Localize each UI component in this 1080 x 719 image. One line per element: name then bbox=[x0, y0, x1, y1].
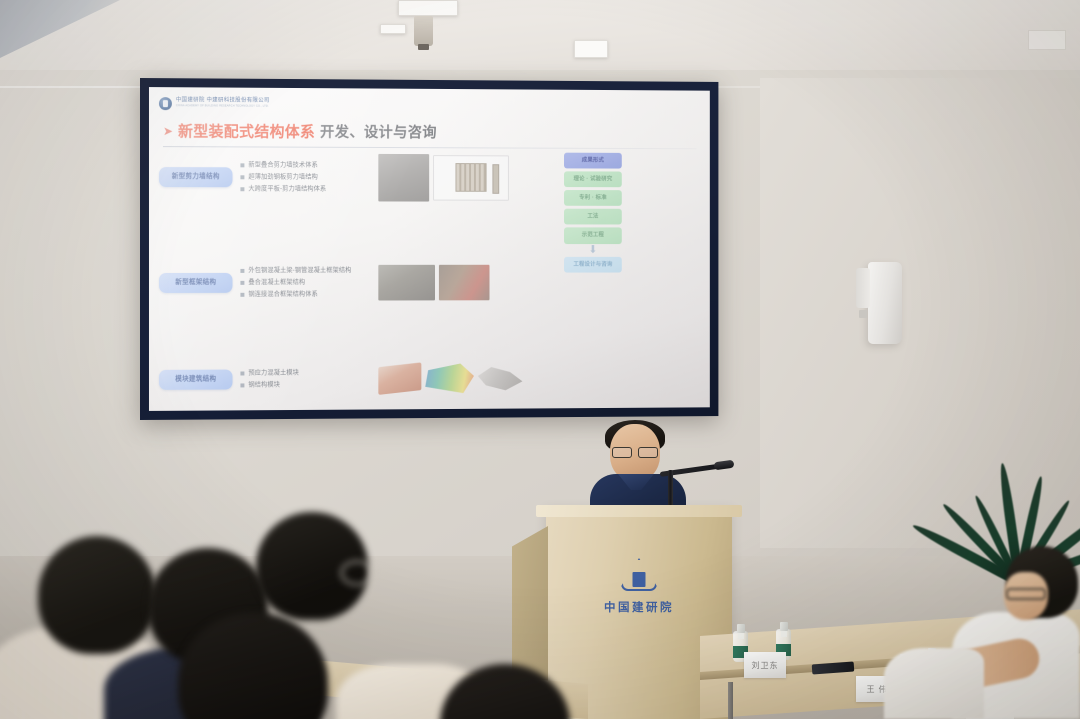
lectern-logo: 中国建研院 bbox=[546, 558, 732, 615]
slide-left-column: 新型剪力墙结构 新型叠合剪力墙技术体系 超薄加劲钢板剪力墙结构 bbox=[159, 149, 555, 405]
projection-screen-frame: 中国建研院 中建研科技股份有限公司 CHINA ACADEMY OF BUILD… bbox=[140, 78, 718, 420]
bullet-item: 超薄加劲钢板剪力墙结构 bbox=[240, 173, 370, 181]
bullet-list: 预应力混凝土模块 钢结构模块 bbox=[240, 369, 370, 389]
thumbnail-group bbox=[378, 363, 555, 394]
bullet-item: 钢连接混合框架结构体系 bbox=[240, 291, 370, 299]
ceiling-light bbox=[574, 40, 608, 58]
bullet-text: 叠合混凝土框架结构 bbox=[248, 279, 305, 287]
ceiling bbox=[0, 0, 1080, 78]
bullet-square-icon bbox=[240, 293, 244, 297]
structure-group: 模块建筑结构 预应力混凝土模块 钢结构模块 bbox=[159, 363, 555, 395]
bullet-text: 钢结构模块 bbox=[248, 381, 280, 389]
slide-title-highlight: 新型装配式结构体系 bbox=[178, 120, 315, 142]
flow-step: 理论 · 试验研究 bbox=[564, 171, 622, 187]
ceiling-light bbox=[380, 24, 406, 34]
name-card: 刘卫东 bbox=[744, 652, 786, 678]
lectern-logo-text: 中国建研院 bbox=[546, 599, 732, 615]
bullet-item: 预应力混凝土模块 bbox=[240, 369, 370, 377]
wall-dispenser bbox=[868, 262, 902, 344]
bullet-text: 外包钢混凝土梁-钢管混凝土框架结构 bbox=[248, 267, 351, 275]
projection-screen: 中国建研院 中建研科技股份有限公司 CHINA ACADEMY OF BUILD… bbox=[149, 87, 710, 411]
bullet-text: 大跨度平板-剪力墙结构体系 bbox=[248, 185, 326, 193]
bullet-item: 钢结构模块 bbox=[240, 381, 370, 390]
flow-arrow-icon: ⬇ bbox=[588, 247, 597, 255]
bullet-text: 钢连接混合框架结构体系 bbox=[248, 291, 317, 299]
bullet-square-icon bbox=[240, 187, 244, 191]
bullet-item: 大跨度平板-剪力墙结构体系 bbox=[240, 185, 370, 193]
lectern-top bbox=[536, 505, 742, 517]
attendee-right-second bbox=[884, 648, 984, 719]
bullet-item: 叠合混凝土框架结构 bbox=[240, 279, 370, 287]
cabr-triangle-logo-icon bbox=[621, 558, 657, 591]
flow-footer: 工程设计与咨询 bbox=[564, 257, 622, 273]
fea-colormap-thumbnail bbox=[425, 363, 474, 393]
company-logo-icon bbox=[159, 97, 172, 110]
flow-step: 工法 bbox=[564, 209, 622, 225]
bullet-item: 外包钢混凝土梁-钢管混凝土框架结构 bbox=[240, 267, 370, 275]
thumbnail-group bbox=[378, 265, 555, 301]
table-leg bbox=[728, 682, 733, 719]
audience-glasses bbox=[340, 560, 374, 586]
presenter-glasses bbox=[612, 447, 658, 456]
slide-title-rest: 开发、设计与咨询 bbox=[320, 121, 437, 142]
3d-connection-model-thumbnail bbox=[478, 364, 523, 392]
slide-title: ➤ 新型装配式结构体系 开发、设计与咨询 bbox=[159, 120, 700, 143]
ceiling-vent bbox=[1028, 30, 1066, 50]
slide-logo: 中国建研院 中建研科技股份有限公司 CHINA ACADEMY OF BUILD… bbox=[159, 95, 700, 114]
attendee-right-glasses bbox=[1006, 588, 1046, 600]
bullet-square-icon bbox=[240, 372, 244, 376]
bullet-list: 外包钢混凝土梁-钢管混凝土框架结构 叠合混凝土框架结构 钢连接混合框架结构体系 bbox=[240, 267, 370, 299]
presentation-slide: 中国建研院 中建研科技股份有限公司 CHINA ACADEMY OF BUILD… bbox=[149, 87, 710, 411]
projector bbox=[414, 16, 433, 46]
flow-header: 成果形式 bbox=[564, 153, 622, 169]
structure-group: 新型框架结构 外包钢混凝土梁-钢管混凝土框架结构 叠合混凝土框架结构 bbox=[159, 265, 555, 301]
bullet-item: 新型叠合剪力墙技术体系 bbox=[240, 162, 370, 170]
name-card-text: 刘卫东 bbox=[752, 660, 779, 671]
category-label: 新型框架结构 bbox=[159, 273, 233, 293]
title-arrow-icon: ➤ bbox=[163, 125, 173, 137]
category-label: 新型剪力墙结构 bbox=[159, 167, 233, 187]
bullet-text: 预应力混凝土模块 bbox=[248, 369, 299, 377]
bullet-square-icon bbox=[240, 164, 244, 168]
bullet-square-icon bbox=[240, 175, 244, 179]
structure-group: 新型剪力墙结构 新型叠合剪力墙技术体系 超薄加劲钢板剪力墙结构 bbox=[159, 153, 555, 202]
conference-room-scene: 中国建研院 中建研科技股份有限公司 CHINA ACADEMY OF BUILD… bbox=[0, 0, 1080, 719]
bullet-text: 超薄加劲钢板剪力墙结构 bbox=[248, 173, 317, 181]
flow-step: 示范工程 bbox=[564, 228, 622, 244]
wall-panel-diagram-thumbnail bbox=[433, 155, 509, 201]
precast-module-thumbnail bbox=[378, 362, 421, 395]
results-flowchart: 成果形式 理论 · 试验研究 专利 · 标准 工法 示范工程 ⬇ 工程设计与咨询 bbox=[561, 151, 625, 403]
category-label: 模块建筑结构 bbox=[159, 370, 233, 390]
building-photo-thumbnail bbox=[378, 154, 429, 202]
rebar-site-photo-thumbnail bbox=[439, 265, 490, 301]
bullet-text: 新型叠合剪力墙技术体系 bbox=[248, 162, 317, 170]
logo-english-name: CHINA ACADEMY OF BUILDING RESEARCH TECHN… bbox=[176, 105, 270, 108]
bullet-list: 新型叠合剪力墙技术体系 超薄加劲钢板剪力墙结构 大跨度平板-剪力墙结构体系 bbox=[240, 162, 370, 194]
ceiling-light bbox=[398, 0, 458, 16]
construction-site-photo-thumbnail bbox=[378, 265, 435, 301]
audience-head bbox=[38, 536, 156, 654]
bullet-square-icon bbox=[240, 383, 244, 387]
bullet-square-icon bbox=[240, 281, 244, 285]
bullet-square-icon bbox=[240, 269, 244, 273]
flow-step: 专利 · 标准 bbox=[564, 190, 622, 206]
slide-body: 新型剪力墙结构 新型叠合剪力墙技术体系 超薄加劲钢板剪力墙结构 bbox=[159, 149, 700, 405]
thumbnail-group bbox=[378, 154, 555, 202]
